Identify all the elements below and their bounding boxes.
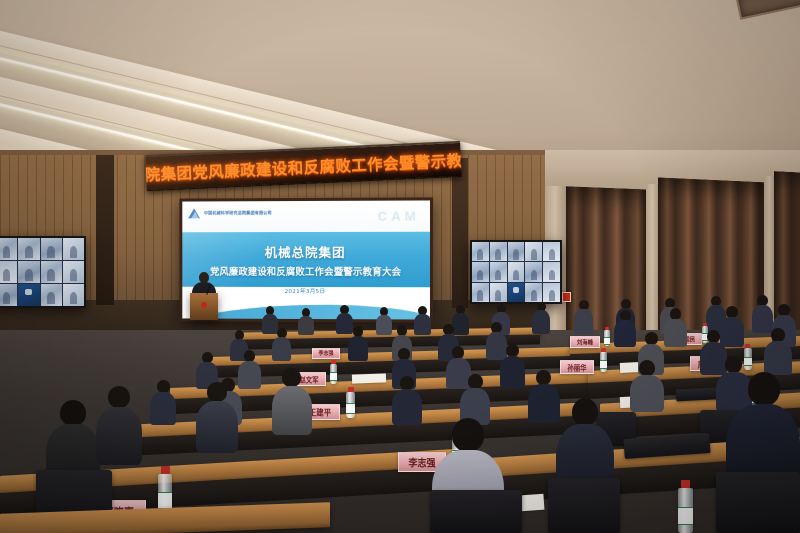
slide-subtitle: 党风廉政建设和反腐败工作会暨警示教育大会 [210,264,401,278]
attendee [376,307,392,333]
attendee [196,382,238,448]
chair [548,478,620,533]
document-paper [352,373,386,383]
name-placard: 李志强 [312,348,340,359]
attendee [414,306,431,333]
fire-alarm-box [562,292,571,302]
slide-date: 2021年3月5日 [182,287,430,296]
water-bottle [330,364,337,384]
water-bottle [346,392,355,418]
attendee [664,308,687,344]
placard-name: 刘海峰 [577,337,593,346]
chair [716,472,800,533]
slide-title: 机械总院集团 [265,242,346,261]
attendee [614,310,636,344]
slide-title-band: 机械总院集团 党风廉政建设和反腐败工作会暨警示教育大会 [182,231,430,288]
video-grid-right [472,242,560,302]
podium [190,293,218,320]
attendee [752,295,773,331]
attendee [392,376,422,422]
water-bottle [600,352,607,372]
attendee [150,380,176,422]
organization-logo: 中国机械科学研究总院集团有限公司 [188,207,272,218]
conference-hall-photo: 机械总院集团党风廉政建设和反腐败工作会暨警示教育大会 中国机械科学研究总院集团有… [0,0,800,533]
left-video-conference-monitor [0,236,86,308]
attendee [500,344,525,385]
ceiling-vent [735,0,800,20]
placard-name: 李志强 [318,349,333,357]
podium-emblem [201,302,207,308]
attendee [272,328,291,358]
attendee [630,360,664,408]
cam-watermark: CAM [378,209,420,224]
attendee [298,308,314,333]
attendee [348,326,368,358]
video-grid-left [0,238,84,306]
attendee [460,374,490,422]
logo-text: 中国机械科学研究总院集团有限公司 [204,210,272,216]
water-bottle [604,330,610,346]
attendee [532,302,550,332]
chair [430,490,522,533]
attendee [764,328,792,372]
wall-column [96,155,114,305]
attendee [272,368,312,430]
right-video-conference-monitor [470,240,562,304]
attendee [96,386,142,460]
water-bottle [678,488,693,533]
placard-name: 王建平 [309,406,331,419]
name-placard: 孙丽华 [560,360,594,374]
presentation-slide: 中国机械科学研究总院集团有限公司 CAM 机械总院集团 党风廉政建设和反腐败工作… [182,200,430,319]
wall-column [452,158,468,308]
name-placard: 刘海峰 [570,336,600,348]
attendee [574,300,593,332]
placard-name: 孙丽华 [567,362,586,372]
logo-mark-icon [188,207,201,218]
